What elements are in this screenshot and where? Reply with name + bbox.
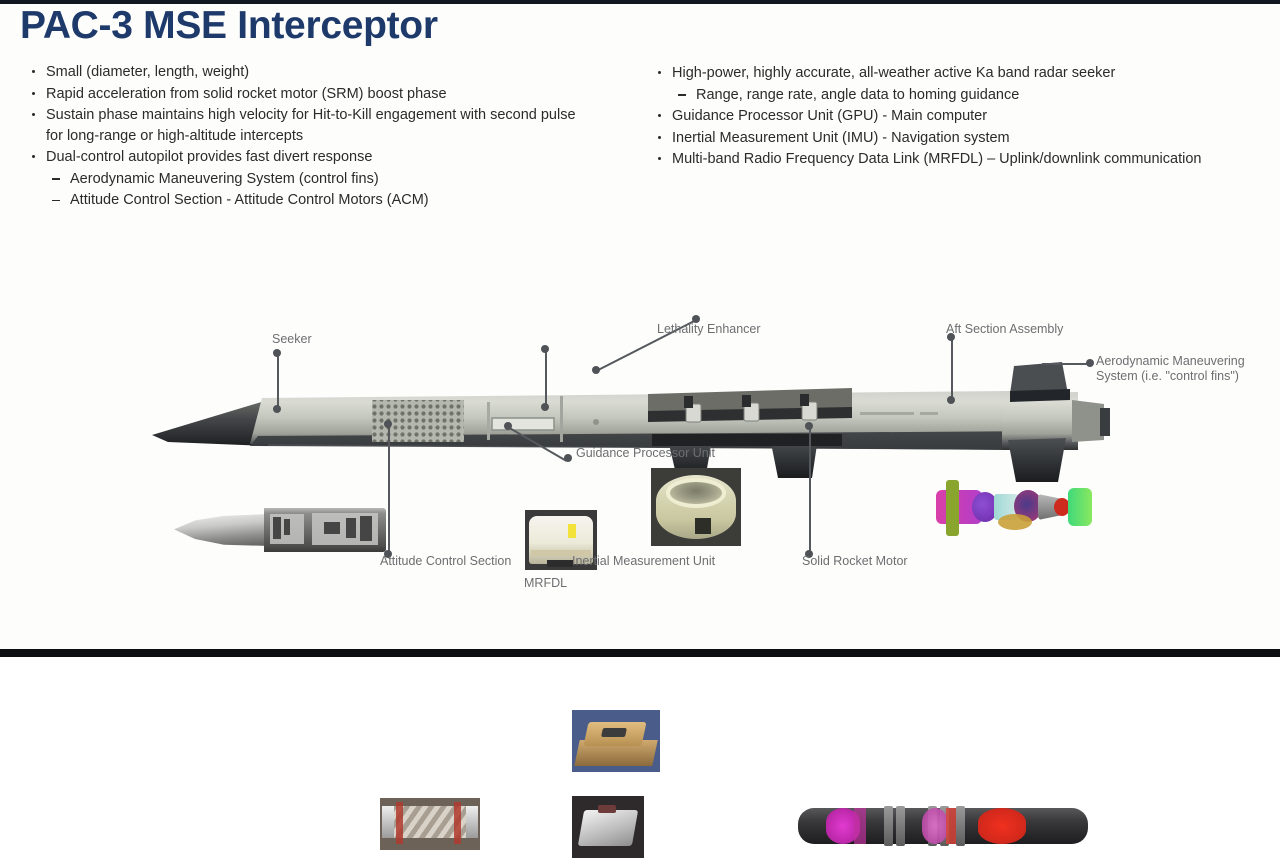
bullet-item: Dual-control autopilot provides fast div… <box>24 147 584 168</box>
bullet-item: Rapid acceleration from solid rocket mot… <box>24 84 584 105</box>
sub-bullet-item: Aerodynamic Maneuvering System (control … <box>24 169 584 190</box>
bullet-column-left: Small (diameter, length, weight) Rapid a… <box>24 62 584 212</box>
bullet-item: Sustain phase maintains high velocity fo… <box>24 105 584 146</box>
callout-label-mrfdl: MRFDL <box>524 576 567 591</box>
leader-dot-seeker-body <box>273 405 281 413</box>
slide-root: PAC-3 MSE Interceptor Small (diameter, l… <box>0 0 1280 657</box>
solid-rocket-motor-thumbnail <box>798 800 1088 852</box>
lethality-enhancer-thumbnail <box>651 468 741 546</box>
bullet-item: Small (diameter, length, weight) <box>24 62 584 83</box>
interceptor-diagram: Seeker MRFDL Lethality Enhancer Aft Sect… <box>0 228 1280 657</box>
leader-line-srm <box>809 426 811 554</box>
leader-line-mrfdl <box>545 350 547 408</box>
callout-label-aft-section-assembly: Aft Section Assembly <box>946 322 1063 337</box>
leader-dot-mrfdl-top <box>541 345 549 353</box>
leader-line-aft-section-assembly <box>951 338 953 400</box>
guidance-processor-unit-thumbnail <box>572 710 660 772</box>
bullet-item: High-power, highly accurate, all-weather… <box>650 63 1270 84</box>
leader-dot-seeker-top <box>273 349 281 357</box>
aft-section-assembly-thumbnail <box>932 480 1092 542</box>
callout-label-lethality-enhancer: Lethality Enhancer <box>657 322 761 337</box>
callout-label-seeker: Seeker <box>272 332 312 347</box>
leader-dot-mrfdl-body <box>541 403 549 411</box>
bullet-item: Inertial Measurement Unit (IMU) - Naviga… <box>650 128 1270 149</box>
leader-dot-ams <box>1086 359 1094 367</box>
callout-label-solid-rocket-motor: Solid Rocket Motor <box>802 554 908 569</box>
leader-dot-lethality-enhancer-body <box>592 366 600 374</box>
callout-label-guidance-processor-unit: Guidance Processor Unit <box>576 446 715 461</box>
sub-bullet-item: Range, range rate, angle data to homing … <box>650 85 1270 106</box>
bottom-edge-bar <box>0 649 1280 657</box>
sub-bullet-item: Attitude Control Section - Attitude Cont… <box>24 190 584 211</box>
leader-dot-gpu-label <box>564 454 572 462</box>
bullet-item: Guidance Processor Unit (GPU) - Main com… <box>650 106 1270 127</box>
leader-dot-gpu-body <box>504 422 512 430</box>
seeker-thumbnail <box>174 508 386 552</box>
page-title: PAC-3 MSE Interceptor <box>20 6 438 47</box>
leader-line-acs <box>388 424 390 554</box>
leader-dot-aft-body <box>947 396 955 404</box>
leader-line-seeker <box>277 354 279 410</box>
leader-dot-srm-body <box>805 422 813 430</box>
callout-label-attitude-control-section: Attitude Control Section <box>380 554 511 569</box>
leader-line-ams <box>1042 363 1092 365</box>
callout-label-inertial-measurement-unit: Inertial Measurement Unit <box>572 554 715 569</box>
attitude-control-section-thumbnail <box>380 798 480 850</box>
bullet-item: Multi-band Radio Frequency Data Link (MR… <box>650 149 1270 170</box>
bullet-column-right: High-power, highly accurate, all-weather… <box>650 63 1270 171</box>
missile-illustration <box>0 228 1280 657</box>
leader-dot-acs-body <box>384 420 392 428</box>
inertial-measurement-unit-thumbnail <box>572 796 644 858</box>
callout-label-aerodynamic-maneuvering-system: Aerodynamic Maneuvering System (i.e. "co… <box>1096 354 1264 384</box>
